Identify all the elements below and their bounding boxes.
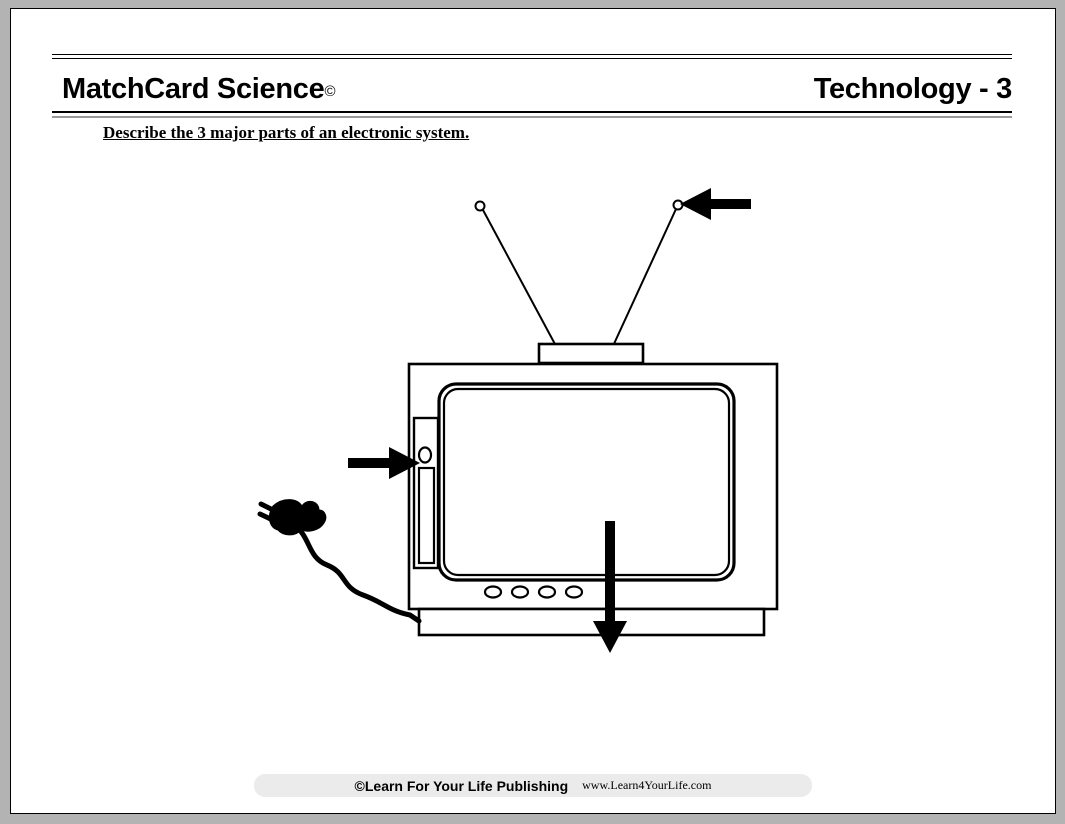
control-slot: [419, 468, 434, 563]
screen-bezel-inner: [444, 389, 729, 575]
antenna-tip-right-icon: [674, 201, 683, 210]
arrow-screen: [593, 521, 627, 653]
page-section-title: Technology - 3: [814, 73, 1012, 106]
header-rule-line-2: [52, 58, 1012, 59]
header-top-rules: [52, 54, 1012, 59]
control-knob-icon: [419, 448, 431, 463]
control-panel: [414, 418, 438, 568]
copyright-symbol: ©: [324, 83, 335, 100]
header-bottom-rules: [52, 111, 1012, 118]
front-button: [512, 587, 528, 598]
antenna-group: [476, 201, 683, 364]
front-button: [566, 587, 582, 598]
header-rule-line-4: [52, 116, 1012, 118]
footer: ©Learn For Your Life Publishing www.Lear…: [254, 774, 812, 797]
worksheet-page: MatchCard Science© Technology - 3 Descri…: [10, 8, 1056, 814]
antenna-rod-left: [483, 210, 556, 346]
front-button: [485, 587, 501, 598]
power-plug-icon: [260, 500, 326, 535]
footer-publisher: ©Learn For Your Life Publishing: [355, 778, 569, 794]
page-background: MatchCard Science© Technology - 3 Descri…: [0, 0, 1065, 824]
header-rule-line-1: [52, 54, 1012, 55]
arrow-antenna: [680, 188, 751, 220]
screen-bezel-outer: [439, 384, 734, 580]
front-button: [539, 587, 555, 598]
power-cord-group: [260, 500, 419, 621]
front-button-row: [485, 587, 582, 598]
power-cord: [294, 525, 419, 621]
footer-website[interactable]: www.Learn4YourLife.com: [582, 778, 711, 793]
antenna-tip-left-icon: [476, 202, 485, 211]
annotation-arrows: [348, 188, 751, 653]
antenna-rod-right: [613, 209, 676, 346]
antenna-base: [539, 344, 643, 363]
instruction-text: Describe the 3 major parts of an electro…: [103, 123, 469, 143]
header-rule-line-3: [52, 111, 1012, 113]
tv-cabinet: [409, 364, 777, 609]
arrow-control-panel: [348, 447, 420, 479]
page-title: MatchCard Science©: [62, 73, 335, 106]
page-title-text: MatchCard Science: [62, 73, 324, 105]
tv-base: [419, 609, 764, 635]
control-panel-group: [414, 418, 438, 568]
